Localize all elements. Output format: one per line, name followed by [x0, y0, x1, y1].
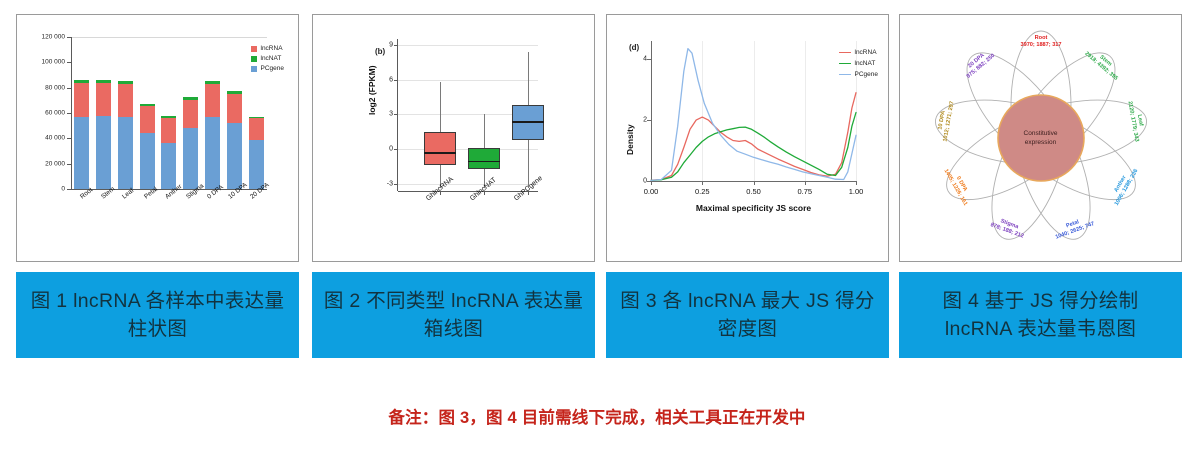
bar-segment-pcgene: [140, 133, 155, 189]
box-body: [468, 148, 500, 169]
y-axis-tick-label: 120 000: [42, 34, 66, 41]
legend-item: lncNAT: [251, 55, 285, 62]
y-axis-tick-label: 2: [643, 117, 647, 124]
y-axis-tick: [67, 113, 71, 114]
boxplot-y-axis-title: log2 (FPKM): [367, 65, 377, 115]
venn-set-values: 3970; 1887; 317: [1020, 42, 1061, 49]
y-axis-tick-label: 60 000: [45, 110, 65, 117]
legend-item: PCgene: [839, 71, 879, 78]
legend-label: lncRNA: [855, 49, 877, 56]
y-axis-tick: [394, 114, 398, 115]
y-axis-tick: [67, 37, 71, 38]
y-axis-tick-label: 6: [389, 76, 393, 83]
density-plot-legend: lncRNAlncNATPCgene: [839, 49, 879, 82]
bar-column: [249, 117, 264, 189]
gridline: [398, 184, 538, 185]
y-axis-tick-label: 20 000: [45, 160, 65, 167]
gridline: [398, 80, 538, 81]
bar-segment-lncrna: [140, 106, 155, 133]
legend-swatch: [251, 46, 257, 52]
y-axis-tick: [647, 181, 651, 182]
box-median-line: [424, 152, 456, 154]
y-axis-tick-label: 100 000: [42, 59, 66, 66]
bar-segment-lncrna: [161, 118, 176, 143]
legend-item: PCgene: [251, 65, 285, 72]
slide-canvas: 020 00040 00060 00080 000100 000120 000 …: [0, 0, 1194, 461]
figure-2-boxplot: (b) log2 (FPKM) -30369 GhlncRNAGhlncNATG…: [312, 14, 595, 262]
x-axis-tick-label: 1.00: [849, 187, 864, 196]
bar-column: [161, 116, 176, 189]
figure-3-caption: 图 3 各 lncRNA 最大 JS 得分密度图: [606, 272, 889, 358]
x-axis-tick-label: 0.00: [644, 187, 659, 196]
bar-segment-lncrna: [96, 83, 111, 116]
x-axis-tick: [856, 181, 857, 185]
venn-set-label-root: Root3970; 1887; 317: [1020, 35, 1061, 49]
legend-label: lncNAT: [855, 60, 876, 67]
bar-series-group: [71, 37, 267, 189]
bar-column: [96, 80, 111, 189]
box-body: [424, 132, 456, 166]
legend-label: lncNAT: [261, 55, 282, 62]
panel-tag-d: (d): [629, 43, 639, 52]
x-axis-tick: [754, 181, 755, 185]
bar-segment-pcgene: [161, 143, 176, 189]
bar-column: [118, 81, 133, 189]
y-axis-tick-label: 80 000: [45, 84, 65, 91]
y-axis-tick-label: -3: [387, 181, 393, 188]
bar-segment-lncrna: [227, 94, 242, 123]
box-median-line: [468, 161, 500, 163]
density-curve-lncrna: [651, 93, 856, 180]
bar-segment-lncrna: [205, 84, 220, 117]
density-curves: [651, 41, 856, 181]
bar-segment-pcgene: [227, 123, 242, 189]
figure-1-caption: 图 1 lncRNA 各样本中表达量柱状图: [16, 272, 299, 358]
x-axis-tick-label: 0.50: [746, 187, 761, 196]
x-axis-tick: [702, 181, 703, 185]
density-plot-area: 0.000.250.500.751.00024: [651, 41, 856, 181]
legend-line-swatch: [839, 63, 851, 65]
bar-chart-x-labels: RootStemLeafPetalAntherStigma0 DPA10 DPA…: [71, 193, 267, 233]
figure-3-density-plot: (d) Density 0.000.250.500.751.00024 Maxi…: [606, 14, 889, 262]
bar-segment-pcgene: [205, 117, 220, 189]
legend-item: lncNAT: [839, 60, 879, 67]
density-x-axis-title: Maximal specificity JS score: [651, 203, 856, 213]
venn-set-name: Root: [1020, 35, 1061, 42]
legend-line-swatch: [839, 52, 851, 54]
bar-segment-lncrna: [74, 83, 89, 117]
bar-segment-pcgene: [96, 116, 111, 189]
bar-segment-lncrna: [183, 100, 198, 129]
bar-segment-pcgene: [249, 140, 264, 189]
figure-4-caption: 图 4 基于 JS 得分绘制 lncRNA 表达量韦恩图: [899, 272, 1182, 358]
figure-1-bar-chart: 020 00040 00060 00080 000100 000120 000 …: [16, 14, 299, 262]
x-axis-tick-label: 0.25: [695, 187, 710, 196]
footer-note: 备注：图 3，图 4 目前需线下完成，相关工具正在开发中: [0, 404, 1194, 428]
venn-canvas: Constitutive expression Root3970; 1887; …: [900, 15, 1181, 261]
venn-center-line-2: expression: [1025, 139, 1056, 146]
legend-item: lncRNA: [251, 45, 285, 52]
bar-column: [227, 91, 242, 189]
venn-center-line-1: Constitutive: [1024, 130, 1058, 137]
density-curve-pcgene: [651, 49, 856, 181]
y-axis-tick: [67, 189, 71, 190]
legend-item: lncRNA: [839, 49, 879, 56]
venn-center-label: Constitutive expression: [1024, 129, 1058, 147]
y-axis-tick-label: 40 000: [45, 135, 65, 142]
y-axis-tick: [394, 149, 398, 150]
y-axis-tick: [394, 45, 398, 46]
density-curve-lncnat: [651, 113, 856, 181]
density-y-axis-title: Density: [625, 124, 635, 155]
y-axis-tick-label: 0: [389, 146, 393, 153]
bar-column: [205, 81, 220, 189]
y-axis-tick: [67, 138, 71, 139]
y-axis-tick: [67, 164, 71, 165]
figure-panel-3: (d) Density 0.000.250.500.751.00024 Maxi…: [606, 14, 891, 358]
bar-chart-legend: lncRNAlncNATPCgene: [251, 45, 285, 75]
y-axis-tick: [394, 80, 398, 81]
legend-label: lncRNA: [261, 45, 283, 52]
y-axis-tick: [67, 62, 71, 63]
bar-column: [183, 97, 198, 189]
figure-panel-4: Constitutive expression Root3970; 1887; …: [899, 14, 1184, 358]
y-axis-tick: [67, 88, 71, 89]
bar-segment-lncrna: [249, 118, 264, 140]
bar-segment-pcgene: [74, 117, 89, 189]
legend-swatch: [251, 56, 257, 62]
bar-column: [74, 80, 89, 189]
bar-segment-lncrna: [118, 84, 133, 117]
legend-line-swatch: [839, 74, 851, 76]
legend-label: PCgene: [855, 71, 879, 78]
panel-tag-b: (b): [375, 47, 385, 56]
y-axis-tick-label: 0: [643, 178, 647, 185]
y-axis-tick: [394, 184, 398, 185]
legend-swatch: [251, 66, 257, 72]
y-axis-tick-label: 4: [643, 56, 647, 63]
figure-panel-1: 020 00040 00060 00080 000100 000120 000 …: [16, 14, 301, 358]
x-axis-tick-label: 0.75: [797, 187, 812, 196]
legend-label: PCgene: [261, 65, 285, 72]
boxplot-plot-area: -30369: [397, 39, 538, 191]
bar-segment-pcgene: [183, 128, 198, 189]
bar-column: [140, 104, 155, 189]
figure-4-venn-diagram: Constitutive expression Root3970; 1887; …: [899, 14, 1182, 262]
x-axis-tick: [651, 181, 652, 185]
box-median-line: [512, 121, 544, 123]
y-axis-tick-label: 3: [389, 111, 393, 118]
figure-panel-2: (b) log2 (FPKM) -30369 GhlncRNAGhlncNATG…: [312, 14, 597, 358]
bar-chart-plot-area: 020 00040 00060 00080 000100 000120 000: [71, 37, 267, 189]
gridline: [398, 45, 538, 46]
y-axis-tick-label: 0: [61, 186, 65, 193]
x-axis-tick: [805, 181, 806, 185]
bar-segment-pcgene: [118, 117, 133, 189]
figure-2-caption: 图 2 不同类型 lncRNA 表达量箱线图: [312, 272, 595, 358]
y-axis-tick-label: 9: [389, 41, 393, 48]
